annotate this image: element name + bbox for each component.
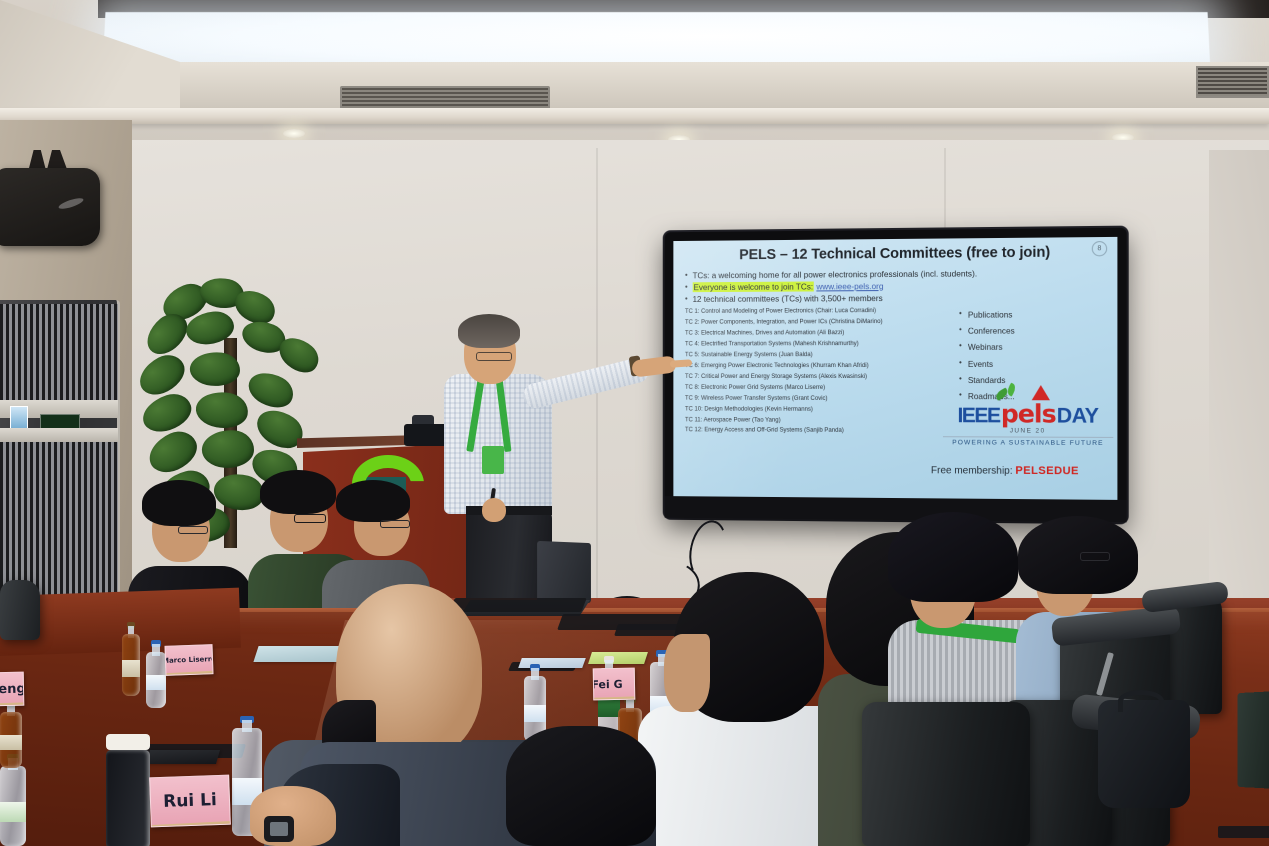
nameplate-text: Rui Li (163, 790, 217, 812)
nameplate-rui-li: Rui Li (149, 775, 231, 828)
tc-item: TC 6: Emerging Power Electronic Technolo… (685, 361, 949, 372)
slide-bullet-3-text: 12 technical committees (TCs) with 3,500… (693, 292, 883, 305)
bullet-dot-icon: • (685, 281, 688, 292)
ac-divider-band (0, 428, 118, 442)
water-bottle (146, 640, 166, 708)
logo-tagline: POWERING A SUSTAINABLE FUTURE (943, 436, 1113, 447)
attendee-dark-foreground (300, 726, 660, 846)
technical-committee-list: TC 1: Control and Modeling of Power Elec… (685, 306, 949, 438)
tc-item: TC 4: Electrified Transportation Systems… (685, 339, 949, 350)
crown-molding (0, 108, 1269, 124)
display-screen: 8 PELS – 12 Technical Committees (free t… (673, 237, 1117, 500)
benefit-label: Standards (968, 373, 1006, 389)
tea-bottle (0, 700, 22, 768)
tc-item: TC 3: Electrical Machines, Drives and Au… (685, 328, 949, 340)
logo-pels-text: pels (1001, 399, 1056, 428)
room-scene: 8 PELS – 12 Technical Committees (free t… (0, 0, 1269, 846)
tc-item: TC 2: Power Components, Integration, and… (685, 317, 949, 329)
nameplate-stand (593, 696, 636, 700)
nameplate-partial-left: eng (0, 672, 24, 707)
presenter-belt (466, 506, 552, 515)
bullet-dot-icon: • (959, 373, 962, 389)
eyeglasses-icon (476, 352, 512, 361)
free-membership-label: Free membership: (931, 465, 1013, 477)
office-chair[interactable] (0, 580, 40, 640)
ac-display-panel[interactable] (40, 414, 80, 429)
bullet-dot-icon: • (959, 356, 962, 372)
tea-bottle (122, 622, 140, 696)
attendee-ear-area (664, 634, 710, 712)
desk-mat (1218, 826, 1269, 838)
tc-item: TC 7: Critical Power and Energy Storage … (685, 372, 949, 383)
presentation-slide: 8 PELS – 12 Technical Committees (free t… (673, 237, 1117, 500)
benefit-item: • Events (959, 356, 1107, 372)
bullet-dot-icon: • (959, 308, 962, 324)
tc-item: TC 12: Energy Access and Off-Grid System… (685, 426, 949, 438)
benefit-item: • Webinars (959, 340, 1107, 357)
eyeglasses-icon (1080, 552, 1110, 561)
free-membership-code: PELSEDUE (1015, 465, 1079, 478)
benefit-label: Events (968, 356, 993, 372)
bullet-dot-icon: • (959, 324, 962, 340)
laptop-screen[interactable] (1238, 691, 1269, 789)
bullet-dot-icon: • (685, 293, 688, 304)
ieee-pels-day-logo: IEEE pels DAY JUNE 20 POWERING A SUSTAIN… (943, 399, 1113, 447)
tc-item: TC 10: Design Methodologies (Kevin Herma… (685, 404, 949, 416)
free-membership-footer: Free membership: PELSEDUE (931, 464, 1079, 477)
bullet-dot-icon: • (959, 340, 962, 356)
nameplate-text: eng (0, 681, 24, 696)
bag-handle (1118, 690, 1164, 712)
benefit-item: • Publications (959, 307, 1107, 324)
bullet-dot-icon: • (685, 269, 688, 280)
eyeglasses-icon (380, 520, 410, 528)
nameplate-text: Marco Liserre (164, 655, 213, 665)
attendee-hair (1018, 516, 1138, 594)
wall-speaker (0, 168, 100, 246)
presenter-badge (482, 446, 504, 474)
pylon-icon (1032, 385, 1050, 400)
logo-wordmark: IEEE pels DAY (943, 399, 1113, 429)
benefit-item: • Conferences (959, 323, 1107, 340)
thermos-cup (106, 734, 150, 846)
attendee-hair (506, 726, 656, 846)
wristwatch-face (270, 822, 288, 836)
slide-title: PELS – 12 Technical Committees (free to … (685, 244, 1107, 264)
ceiling-air-vent-right (1196, 66, 1269, 98)
logo-ieee-text: IEEE (957, 404, 999, 428)
attendee-hair (888, 512, 1018, 602)
attendee-hair (336, 480, 410, 522)
office-chair[interactable] (862, 702, 1030, 846)
benefit-label: Conferences (968, 324, 1015, 340)
nameplate-marco-liserre: Marco Liserre (164, 644, 213, 676)
logo-day-text: DAY (1057, 404, 1099, 428)
slide-bullet-1-text: TCs: a welcoming home for all power elec… (693, 267, 978, 281)
attendee-hair (142, 480, 216, 526)
ceiling-soffit (0, 62, 1269, 110)
tc-item: TC 9: Wireless Power Transfer Systems (G… (685, 393, 949, 404)
ceiling-downlight (283, 129, 305, 138)
eyeglasses-icon (178, 526, 208, 534)
tc-item: TC 5: Sustainable Energy Systems (Juan B… (685, 350, 949, 361)
benefit-label: Publications (968, 307, 1013, 324)
nameplate-text: Fei G (593, 677, 623, 691)
wall-mounted-display[interactable]: 8 PELS – 12 Technical Committees (free t… (665, 228, 1127, 523)
laptop-bag (1098, 700, 1190, 808)
slide-number-badge: 8 (1092, 241, 1107, 256)
presenter-hand (482, 498, 506, 522)
tablet-device (146, 750, 220, 764)
ac-louvers-top (0, 304, 118, 400)
slide-bullet-2-text: Everyone is welcome to join TCs: (693, 281, 815, 292)
benefit-label: Webinars (968, 340, 1003, 356)
presenter-hair (458, 314, 520, 348)
pels-website-link[interactable]: www.ieee-pels.org (816, 281, 883, 291)
slide-bullet-3: • 12 technical committees (TCs) with 3,5… (685, 291, 1107, 305)
tc-item: TC 8: Electronic Power Grid Systems (Mar… (685, 383, 949, 394)
nameplate-fei-g: Fei G (593, 668, 636, 701)
